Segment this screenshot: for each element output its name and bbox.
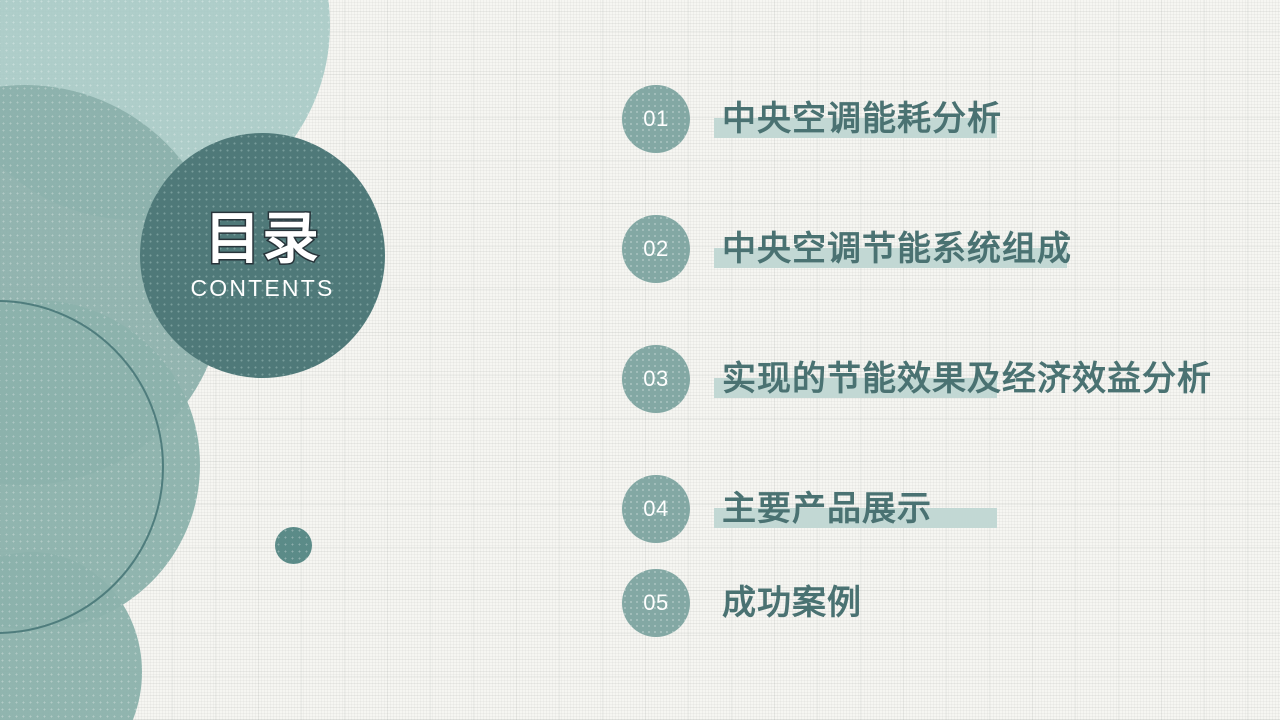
list-item[interactable]: 05 成功案例 [622,564,1272,658]
list-item[interactable]: 02 中央空调节能系统组成 [622,210,1272,340]
item-text-wrap: 成功案例 [722,564,862,642]
speckle-overlay [275,527,312,564]
item-label: 主要产品展示 [722,470,932,548]
item-number: 02 [643,236,668,262]
item-text-wrap: 实现的节能效果及经济效益分析 [722,340,1212,418]
item-number-badge: 04 [622,475,690,543]
page-subtitle: CONTENTS [190,277,334,300]
item-label: 中央空调能耗分析 [722,80,1002,158]
item-number-badge: 05 [622,569,690,637]
item-number-badge: 01 [622,85,690,153]
item-number-badge: 03 [622,345,690,413]
list-item[interactable]: 01 中央空调能耗分析 [622,80,1272,210]
item-label: 实现的节能效果及经济效益分析 [722,340,1212,418]
table-of-contents-list: 01 中央空调能耗分析 02 中央空调节能系统组成 03 [622,80,1272,658]
item-text-wrap: 中央空调节能系统组成 [722,210,1072,288]
item-number: 03 [643,366,668,392]
item-number-badge: 02 [622,215,690,283]
item-label: 中央空调节能系统组成 [722,210,1072,288]
item-text-wrap: 主要产品展示 [722,470,932,548]
item-label: 成功案例 [722,564,862,642]
toc-title-circle: 目录 CONTENTS [140,133,385,378]
item-text-wrap: 中央空调能耗分析 [722,80,1002,158]
page-title: 目录 [205,211,321,267]
decorative-dot-small [275,527,312,564]
presentation-slide: 目录 CONTENTS 01 中央空调能耗分析 02 中央空调节能系统组成 [0,0,1280,720]
list-item[interactable]: 04 主要产品展示 [622,470,1272,564]
item-number: 01 [643,106,668,132]
item-number: 04 [643,496,668,522]
list-item[interactable]: 03 实现的节能效果及经济效益分析 [622,340,1272,470]
item-number: 05 [643,590,668,616]
